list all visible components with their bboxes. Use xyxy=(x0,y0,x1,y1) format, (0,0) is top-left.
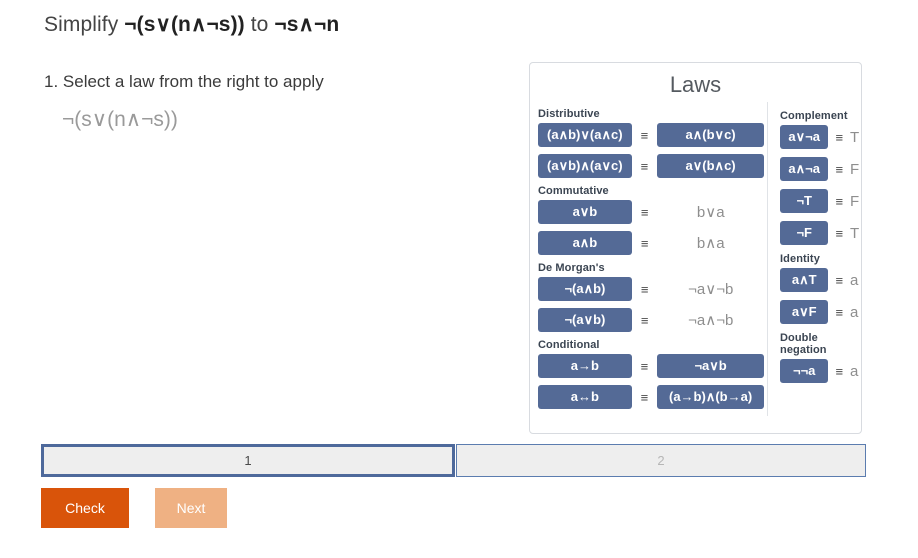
law-result-right: a xyxy=(850,363,863,380)
current-expression: ¬(s∨(n∧¬s)) xyxy=(62,107,178,132)
prompt-connector: to xyxy=(251,13,269,36)
law-option-left[interactable]: a∧T xyxy=(780,268,828,292)
law-row: ¬¬a≡a xyxy=(780,359,863,383)
law-option-left[interactable]: ¬F xyxy=(780,221,828,245)
equivalence-symbol: ≡ xyxy=(835,162,843,177)
step-instruction: 1. Select a law from the right to apply xyxy=(44,72,324,92)
step-tab-2[interactable]: 2 xyxy=(456,444,866,477)
equivalence-symbol: ≡ xyxy=(835,194,843,209)
law-result-right: F xyxy=(850,193,863,210)
equivalence-symbol: ≡ xyxy=(641,159,649,174)
next-button[interactable]: Next xyxy=(155,488,227,528)
law-result-right: ¬a∨¬b xyxy=(657,280,764,298)
equivalence-symbol: ≡ xyxy=(641,313,649,328)
law-group-title: Conditional xyxy=(538,339,764,351)
equivalence-symbol: ≡ xyxy=(641,390,649,405)
law-row: (a∧b)∨(a∧c)≡a∧(b∨c) xyxy=(538,123,764,147)
law-row: a→b≡¬a∨b xyxy=(538,354,764,378)
laws-panel-title: Laws xyxy=(530,63,861,102)
law-option-right[interactable]: (a→b)∧(b→a) xyxy=(657,385,764,409)
laws-body: Distributive(a∧b)∨(a∧c)≡a∧(b∨c)(a∨b)∧(a∨… xyxy=(530,102,861,416)
law-option-left[interactable]: a→b xyxy=(538,354,632,378)
law-result-right: T xyxy=(850,225,863,242)
equivalence-symbol: ≡ xyxy=(835,305,843,320)
law-result-right: b∧a xyxy=(657,234,764,252)
equivalence-symbol: ≡ xyxy=(835,364,843,379)
target-expression: ¬s∧¬n xyxy=(274,13,339,36)
law-row: a∨F≡a xyxy=(780,300,863,324)
law-option-left[interactable]: (a∧b)∨(a∧c) xyxy=(538,123,632,147)
source-expression: ¬(s∨(n∧¬s)) xyxy=(124,13,245,36)
laws-column-left: Distributive(a∧b)∨(a∧c)≡a∧(b∨c)(a∨b)∧(a∨… xyxy=(536,102,764,416)
law-group-title: Complement xyxy=(780,110,863,122)
law-row: ¬T≡F xyxy=(780,189,863,213)
law-row: a∧T≡a xyxy=(780,268,863,292)
equivalence-symbol: ≡ xyxy=(835,273,843,288)
law-group-title: Identity xyxy=(780,253,863,265)
law-option-left[interactable]: a∨F xyxy=(780,300,828,324)
law-result-right: b∨a xyxy=(657,203,764,221)
law-option-left[interactable]: a↔b xyxy=(538,385,632,409)
law-option-left[interactable]: a∧b xyxy=(538,231,632,255)
law-group-title: Double negation xyxy=(780,332,863,356)
law-option-left[interactable]: ¬(a∨b) xyxy=(538,308,632,332)
law-row: ¬(a∨b)≡¬a∧¬b xyxy=(538,308,764,332)
law-result-right: F xyxy=(850,161,863,178)
law-row: a∧¬a≡F xyxy=(780,157,863,181)
equivalence-symbol: ≡ xyxy=(641,128,649,143)
equivalence-symbol: ≡ xyxy=(835,226,843,241)
law-result-right: T xyxy=(850,129,863,146)
law-group-title: Commutative xyxy=(538,185,764,197)
law-result-right: a xyxy=(850,272,863,289)
law-option-left[interactable]: ¬(a∧b) xyxy=(538,277,632,301)
law-option-left[interactable]: a∨¬a xyxy=(780,125,828,149)
law-option-left[interactable]: ¬¬a xyxy=(780,359,828,383)
law-option-right[interactable]: a∧(b∨c) xyxy=(657,123,764,147)
law-option-left[interactable]: a∨b xyxy=(538,200,632,224)
law-option-left[interactable]: a∧¬a xyxy=(780,157,828,181)
law-option-left[interactable]: ¬T xyxy=(780,189,828,213)
check-button[interactable]: Check xyxy=(41,488,129,528)
law-row: ¬(a∧b)≡¬a∨¬b xyxy=(538,277,764,301)
law-result-right: ¬a∧¬b xyxy=(657,311,764,329)
equivalence-symbol: ≡ xyxy=(641,236,649,251)
law-result-right: a xyxy=(850,304,863,321)
equivalence-symbol: ≡ xyxy=(641,282,649,297)
equivalence-symbol: ≡ xyxy=(641,359,649,374)
law-row: (a∨b)∧(a∨c)≡a∨(b∧c) xyxy=(538,154,764,178)
equivalence-symbol: ≡ xyxy=(641,205,649,220)
law-group-title: Distributive xyxy=(538,108,764,120)
equivalence-symbol: ≡ xyxy=(835,130,843,145)
law-row: a↔b≡(a→b)∧(b→a) xyxy=(538,385,764,409)
law-option-right[interactable]: a∨(b∧c) xyxy=(657,154,764,178)
law-row: ¬F≡T xyxy=(780,221,863,245)
law-group-title: De Morgan's xyxy=(538,262,764,274)
law-option-right[interactable]: ¬a∨b xyxy=(657,354,764,378)
prompt-verb: Simplify xyxy=(44,13,118,36)
laws-column-right: Complementa∨¬a≡Ta∧¬a≡F¬T≡F¬F≡TIdentitya∧… xyxy=(767,102,863,416)
laws-panel: Laws Distributive(a∧b)∨(a∧c)≡a∧(b∨c)(a∨b… xyxy=(529,62,862,434)
law-option-left[interactable]: (a∨b)∧(a∨c) xyxy=(538,154,632,178)
step-tab-1[interactable]: 1 xyxy=(41,444,455,477)
step-tabs: 1 2 xyxy=(41,444,866,477)
law-row: a∨b≡b∨a xyxy=(538,200,764,224)
exercise-page: Simplify ¬(s∨(n∧¬s)) to ¬s∧¬n 1. Select … xyxy=(0,0,918,558)
law-row: a∧b≡b∧a xyxy=(538,231,764,255)
law-row: a∨¬a≡T xyxy=(780,125,863,149)
page-title: Simplify ¬(s∨(n∧¬s)) to ¬s∧¬n xyxy=(44,12,339,37)
